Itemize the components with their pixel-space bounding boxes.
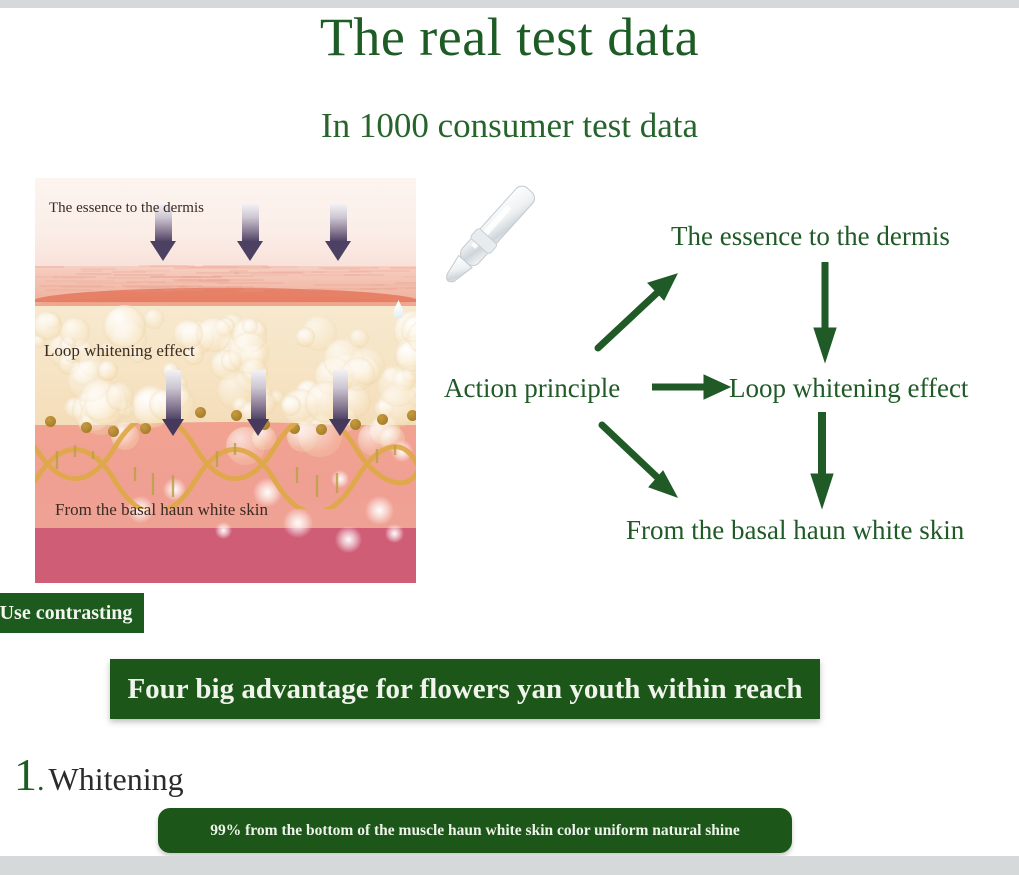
flow-node-essence-to-dermis: The essence to the dermis [671,220,950,252]
epidermis-striation [251,274,288,276]
sparkle-icon [385,524,404,543]
epidermis-striation [126,281,166,283]
dna-helix-icon [35,423,416,509]
epidermis-striation [226,286,255,288]
arrow-center-to-top [598,274,677,348]
epidermis-striation [324,268,361,270]
epidermis-striation [161,289,204,291]
adipose-bubble [228,332,270,374]
adipose-bubble [144,308,165,329]
penetration-arrow-icon [327,370,353,420]
adipose-bubble [377,365,416,407]
advantage-list-item: 1 . Whitening [14,752,184,798]
sparkle-icon [215,522,232,539]
epidermis-striation [125,286,191,288]
epidermis-striation [311,271,370,273]
epidermis-striation [150,276,202,278]
advantage-number-dot: . [37,766,45,796]
page-title: The real test data [0,4,1019,70]
epidermis-striation [239,290,264,292]
illustration-caption-top: The essence to the dermis [49,200,204,217]
penetration-arrow-icon [245,370,271,420]
epidermis-striation [395,282,416,284]
illustration-caption-bottom: From the basal haun white skin [55,500,268,520]
skin-cross-section-illustration: The essence to the dermis Loop whitening… [35,178,416,583]
penetration-arrow-icon [237,204,263,242]
letterbox-band-bottom [0,856,1019,875]
sparkle-icon [283,508,313,538]
penetration-arrow-icon [160,370,186,420]
epidermis-striation [402,276,416,278]
epidermis-striation [150,265,188,267]
sparkle-icon [335,526,362,553]
melanin-dot-icon [231,410,242,421]
arrow-center-to-right [652,375,730,399]
epidermis-striation [196,272,239,274]
arrow-top-to-right [814,262,836,362]
adipose-bubble [280,395,301,416]
flow-node-basal-white-skin: From the basal haun white skin [626,514,964,546]
epidermis-striation [53,276,96,278]
epidermis-striation [302,289,326,291]
adipose-bubble [106,382,135,411]
use-contrasting-badge: Use contrasting [0,593,144,633]
epidermis-striation [203,265,269,267]
penetration-arrow-icon [325,204,351,242]
slide-page: The real test data In 1000 consumer test… [0,0,1019,875]
epidermis-striation [106,277,153,279]
epidermis-striation [301,274,360,276]
epidermis-striation [35,266,64,268]
epidermis-striation [45,280,114,282]
adipose-bubble [97,360,118,381]
illustration-caption-middle: Loop whitening effect [44,341,195,361]
epidermis-striation [45,289,93,291]
epidermis-striation [390,267,416,269]
advantage-label: Whitening [49,761,184,797]
advantage-number: 1 [14,752,37,798]
flow-node-loop-whitening-effect: Loop whitening effect [729,372,968,404]
epidermis-striation [385,287,416,289]
arrow-right-to-bottom [811,412,833,508]
action-principle-flow-diagram: Action principle The essence to the derm… [430,190,1019,570]
four-advantages-banner: Four big advantage for flowers yan youth… [110,659,820,719]
whitening-claim-pill: 99% from the bottom of the muscle haun w… [158,808,792,853]
epidermis-striation [131,270,170,272]
arrow-center-to-bottom [602,425,677,497]
epidermis-striation [76,273,112,275]
melanin-dot-icon [407,410,416,421]
page-subtitle: In 1000 consumer test data [0,103,1019,149]
flow-node-action-principle: Action principle [444,372,620,404]
epidermis-surface-layer [35,178,416,266]
melanin-dot-icon [195,407,206,418]
